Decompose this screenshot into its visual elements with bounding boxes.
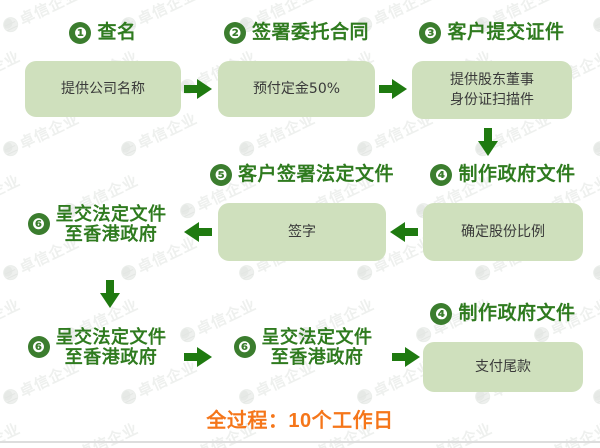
step-1-box[interactable]: 提供公司名称: [25, 61, 181, 117]
arrow-right-icon-4: [392, 347, 420, 367]
step-6a-title: 呈交法定文件 至香港政府: [56, 204, 167, 244]
step-5-box[interactable]: 签字: [218, 203, 386, 261]
step-6a-header: ❻ 呈交法定文件 至香港政府: [12, 204, 182, 244]
step-1-header: ❶ 查名: [25, 22, 181, 44]
step-6b-header: ❻ 呈交法定文件 至香港政府: [12, 327, 182, 367]
step-4-title: 制作政府文件: [458, 164, 575, 185]
step-3-body-line-1: 提供股东董事: [450, 70, 534, 90]
step-1-node[interactable]: ❶ 查名: [25, 22, 181, 44]
step-4-header: ❹ 制作政府文件: [423, 164, 583, 186]
step-6b-title-line-2: 至香港政府: [65, 347, 158, 367]
arrow-down-icon-2: [100, 280, 120, 308]
bottom-divider: [0, 441, 600, 443]
step-2-box[interactable]: 预付定金50%: [218, 61, 375, 117]
step-4-body: 确定股份比例: [461, 222, 545, 242]
step-6a-node[interactable]: ❻ 呈交法定文件 至香港政府: [12, 204, 182, 244]
step-4b-header: ❹ 制作政府文件: [423, 303, 583, 325]
step-5-badge: ❺: [210, 164, 232, 186]
step-3-header: ❸ 客户提交证件: [412, 22, 572, 44]
step-6b-title-line-1: 呈交法定文件: [56, 327, 167, 347]
arrow-left-icon-2: [184, 222, 212, 242]
step-6a-title-line-2: 至香港政府: [65, 224, 158, 244]
step-6a-title-line-1: 呈交法定文件: [56, 204, 167, 224]
step-4-badge: ❹: [430, 164, 452, 186]
step-6c-node[interactable]: ❻ 呈交法定文件 至香港政府: [218, 327, 388, 367]
arrow-right-icon-3: [184, 347, 212, 367]
step-1-title: 查名: [97, 22, 136, 43]
step-6c-title-line-2: 至香港政府: [271, 347, 364, 367]
step-6b-title: 呈交法定文件 至香港政府: [56, 327, 167, 367]
arrow-right-icon-1: [184, 79, 212, 99]
step-1-body: 提供公司名称: [61, 79, 145, 99]
step-4b-box[interactable]: 支付尾款: [423, 342, 583, 392]
step-2-node[interactable]: ❷ 签署委托合同: [218, 22, 375, 44]
step-2-title: 签署委托合同: [252, 22, 369, 43]
step-3-badge: ❸: [419, 22, 441, 44]
step-5-header: ❺ 客户签署法定文件: [218, 164, 386, 186]
step-4b-badge: ❹: [430, 303, 452, 325]
step-6c-badge: ❻: [234, 336, 256, 358]
step-1-badge: ❶: [69, 22, 91, 44]
step-3-node[interactable]: ❸ 客户提交证件: [412, 22, 572, 44]
step-4-box[interactable]: 确定股份比例: [423, 203, 583, 261]
step-3-body-line-2: 身份证扫描件: [450, 90, 534, 110]
step-6c-title: 呈交法定文件 至香港政府: [262, 327, 373, 367]
step-2-badge: ❷: [224, 22, 246, 44]
flowchart-canvas: 卓信企业卓信企业卓信企业卓信企业卓信企业卓信企业卓信企业卓信企业卓信企业卓信企业…: [0, 0, 600, 448]
step-3-title: 客户提交证件: [447, 22, 564, 43]
flowchart-content: ❶ 查名 提供公司名称 ❷ 签署委托合同 预付定金50% ❸ 客户提交证件 提供…: [0, 0, 600, 448]
step-6b-badge: ❻: [28, 336, 50, 358]
arrow-right-icon-2: [379, 79, 407, 99]
arrow-down-icon-1: [478, 128, 498, 156]
step-2-body: 预付定金50%: [253, 79, 340, 99]
step-2-header: ❷ 签署委托合同: [218, 22, 375, 44]
total-duration-note: 全过程：10个工作日: [0, 404, 600, 433]
step-6b-node[interactable]: ❻ 呈交法定文件 至香港政府: [12, 327, 182, 367]
step-6c-title-line-1: 呈交法定文件: [262, 327, 373, 347]
step-5-title: 客户签署法定文件: [238, 164, 394, 185]
step-4-node[interactable]: ❹ 制作政府文件: [423, 164, 583, 186]
step-6c-header: ❻ 呈交法定文件 至香港政府: [218, 327, 388, 367]
step-5-body: 签字: [288, 222, 316, 242]
step-5-node[interactable]: ❺ 客户签署法定文件: [218, 164, 386, 186]
step-4b-title: 制作政府文件: [458, 303, 575, 324]
step-4b-body: 支付尾款: [475, 357, 531, 377]
arrow-left-icon-1: [390, 222, 418, 242]
step-4b-node[interactable]: ❹ 制作政府文件: [423, 303, 583, 325]
step-3-box[interactable]: 提供股东董事 身份证扫描件: [412, 61, 572, 119]
step-6a-badge: ❻: [28, 213, 50, 235]
